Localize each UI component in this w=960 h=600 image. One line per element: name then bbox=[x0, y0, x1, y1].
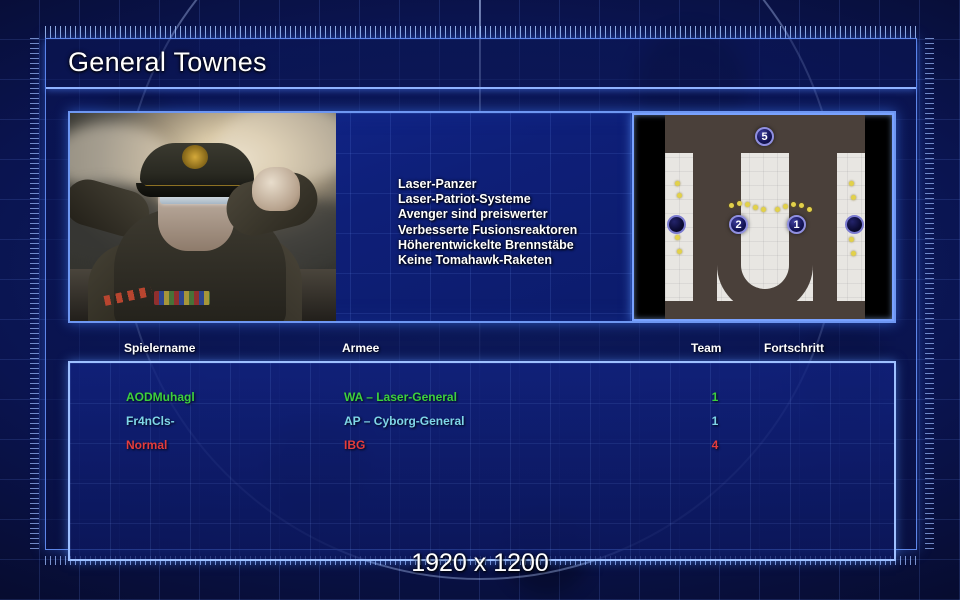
map-resource-dot bbox=[737, 201, 742, 206]
player-table-headers: Spielername Armee Team Fortschritt bbox=[46, 341, 916, 361]
header-army: Armee bbox=[342, 341, 379, 355]
map-resource-dot bbox=[775, 207, 780, 212]
map-resource-dot bbox=[799, 203, 804, 208]
general-portrait bbox=[70, 113, 336, 321]
player-team: 1 bbox=[694, 414, 736, 428]
player-team: 1 bbox=[694, 390, 736, 404]
map-terrain-bottom bbox=[665, 301, 865, 319]
bonus-line: Höherentwickelte Brennstäbe bbox=[398, 238, 577, 253]
map-resource-dot bbox=[849, 237, 854, 242]
player-name: AODMuhagl bbox=[126, 390, 195, 404]
map-start-position-2: 2 bbox=[729, 215, 748, 234]
table-row[interactable]: Normal IBG 4 bbox=[70, 435, 894, 459]
ruler-top bbox=[45, 26, 917, 38]
map-resource-dot bbox=[851, 195, 856, 200]
bonus-line: Laser-Panzer bbox=[398, 177, 577, 192]
player-list-panel: AODMuhagl WA – Laser-General 1 Fr4nCls- … bbox=[68, 361, 896, 561]
header-progress: Fortschritt bbox=[764, 341, 824, 355]
general-medal-ribbons bbox=[154, 291, 210, 305]
lobby-window: General Townes bbox=[45, 38, 917, 550]
map-terrain-column-right bbox=[813, 153, 837, 319]
map-resource-dot bbox=[783, 204, 788, 209]
player-army: IBG bbox=[344, 438, 365, 452]
map-start-position-unnumbered-left bbox=[667, 215, 686, 234]
map-resource-dot bbox=[753, 205, 758, 210]
map-preview[interactable]: 5 2 1 bbox=[665, 115, 865, 319]
ruler-left bbox=[30, 38, 39, 550]
map-resource-dot bbox=[677, 193, 682, 198]
map-resource-dot bbox=[807, 207, 812, 212]
ruler-right bbox=[925, 38, 934, 550]
player-army: WA – Laser-General bbox=[344, 390, 457, 404]
table-row[interactable]: AODMuhagl WA – Laser-General 1 bbox=[70, 387, 894, 411]
general-info-panel: Laser-Panzer Laser-Patriot-Systeme Aveng… bbox=[68, 111, 896, 323]
map-resource-dot bbox=[675, 181, 680, 186]
map-resource-dot bbox=[729, 203, 734, 208]
map-resource-dot bbox=[675, 235, 680, 240]
bonus-line: Avenger sind preiswerter bbox=[398, 207, 577, 222]
window-titlebar: General Townes bbox=[46, 39, 916, 89]
header-player-name: Spielername bbox=[124, 341, 195, 355]
map-resource-dot bbox=[791, 202, 796, 207]
player-army: AP – Cyborg-General bbox=[344, 414, 464, 428]
map-resource-dot bbox=[851, 251, 856, 256]
bonus-line: Laser-Patriot-Systeme bbox=[398, 192, 577, 207]
player-team: 4 bbox=[694, 438, 736, 452]
map-preview-frame[interactable]: 5 2 1 bbox=[632, 113, 894, 321]
map-start-position-1: 1 bbox=[787, 215, 806, 234]
map-terrain-column-left bbox=[693, 153, 717, 319]
map-start-position-unnumbered-right bbox=[845, 215, 864, 234]
bonus-line: Keine Tomahawk-Raketen bbox=[398, 253, 577, 268]
header-team: Team bbox=[691, 341, 721, 355]
page-title: General Townes bbox=[68, 47, 267, 78]
map-resource-dot bbox=[745, 202, 750, 207]
general-bonus-list: Laser-Panzer Laser-Patriot-Systeme Aveng… bbox=[398, 177, 577, 268]
player-name: Fr4nCls- bbox=[126, 414, 175, 428]
bonus-line: Verbesserte Fusionsreaktoren bbox=[398, 223, 577, 238]
map-resource-dot bbox=[849, 181, 854, 186]
window-content: Laser-Panzer Laser-Patriot-Systeme Aveng… bbox=[46, 89, 916, 549]
map-resource-dot bbox=[761, 207, 766, 212]
general-pointing-hand bbox=[252, 167, 300, 211]
player-name: Normal bbox=[126, 438, 167, 452]
resolution-label: 1920 x 1200 bbox=[0, 549, 960, 578]
map-start-position-5: 5 bbox=[755, 127, 774, 146]
general-cap-badge bbox=[182, 145, 208, 169]
table-row[interactable]: Fr4nCls- AP – Cyborg-General 1 bbox=[70, 411, 894, 435]
map-resource-dot bbox=[677, 249, 682, 254]
